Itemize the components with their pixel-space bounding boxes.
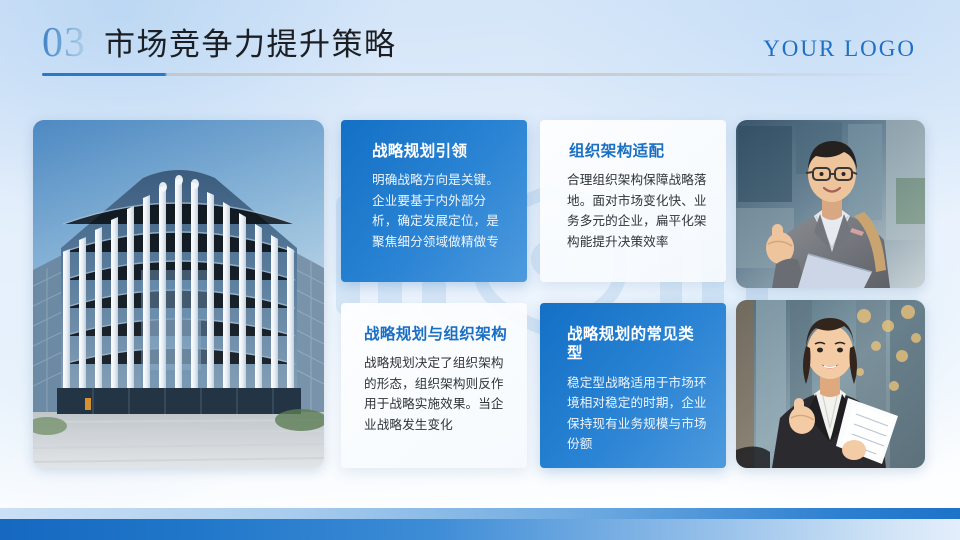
card-title: 战略规划引领 (360, 142, 508, 161)
card-body: 明确战略方向是关键。企业要基于内外部分析，确定发展定位，是聚焦细分领域做精做专 (360, 170, 508, 252)
card-title: 组织架构适配 (559, 142, 707, 161)
title-underline-rule (42, 73, 918, 76)
card-common-types[interactable]: 战略规划的常见类型 稳定型战略适用于市场环境相对稳定的时期，企业保持现有业务规模… (540, 303, 726, 468)
photo-woman (736, 300, 925, 468)
card-strategy-lead[interactable]: 战略规划引领 明确战略方向是关键。企业要基于内外部分析，确定发展定位，是聚焦细分… (341, 120, 527, 282)
card-strategy-and-org[interactable]: 战略规划与组织架构 战略规划决定了组织架构的形态，组织架构则反作用于战略实施效果… (341, 303, 527, 468)
photo-man (736, 120, 925, 288)
card-body: 战略规划决定了组织架构的形态，组织架构则反作用于战略实施效果。当企业战略发生变化 (360, 353, 508, 435)
card-title: 战略规划与组织架构 (360, 325, 508, 344)
card-body: 稳定型战略适用于市场环境相对稳定的时期，企业保持现有业务规模与市场份额 (559, 373, 707, 455)
card-title: 战略规划的常见类型 (559, 325, 707, 364)
page-title: 市场竞争力提升策略 (104, 24, 397, 66)
logo-text: YOUR LOGO (763, 36, 916, 62)
footer-bar-thin (0, 508, 960, 519)
slide-header: 03 市场竞争力提升策略 YOUR LOGO (0, 0, 960, 92)
footer-bar-thick (0, 519, 960, 540)
card-body: 合理组织架构保障战略落地。面对市场变化快、业务多元的企业，扁平化架构能提升决策效… (559, 170, 707, 252)
card-org-structure[interactable]: 组织架构适配 合理组织架构保障战略落地。面对市场变化快、业务多元的企业，扁平化架… (540, 120, 726, 282)
slide: 03 市场竞争力提升策略 YOUR LOGO (0, 0, 960, 540)
section-number: 03 (42, 22, 86, 64)
photo-building (33, 120, 324, 468)
